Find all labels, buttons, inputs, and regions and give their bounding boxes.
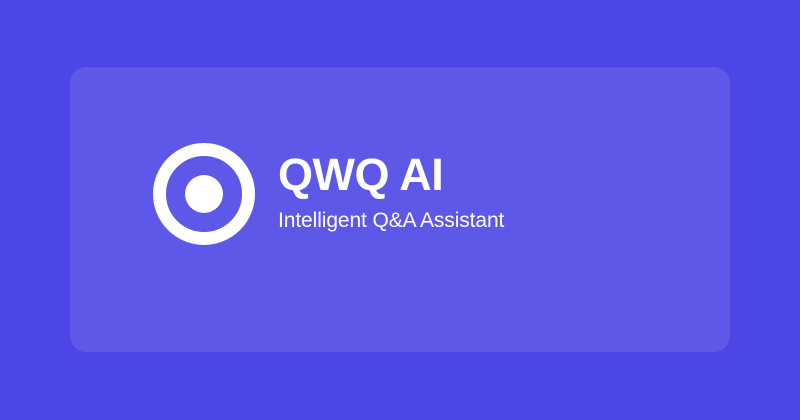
banner-stage: QWQ AI Intelligent Q&A Assistant [0, 0, 800, 420]
page-title: QWQ AI [278, 152, 504, 199]
page-subtitle: Intelligent Q&A Assistant [278, 208, 504, 234]
brand-block: QWQ AI Intelligent Q&A Assistant [153, 143, 504, 245]
brand-text-stack: QWQ AI Intelligent Q&A Assistant [278, 152, 504, 236]
brand-banner-card: QWQ AI Intelligent Q&A Assistant [70, 67, 730, 352]
concentric-circle-target-icon [153, 143, 255, 245]
